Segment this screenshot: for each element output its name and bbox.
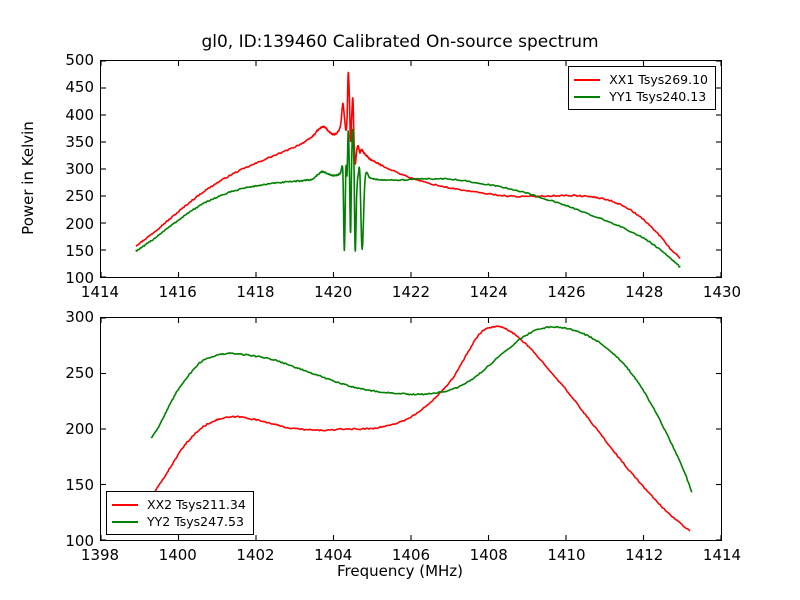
y-tick-label: 250 (52, 187, 94, 205)
y-tick-label: 300 (52, 160, 94, 178)
legend-label: YY2 Tsys247.53 (147, 514, 244, 529)
x-tick-label: 1410 (547, 546, 585, 564)
x-tick-label: 1414 (703, 546, 741, 564)
x-tick-label: 1426 (547, 283, 585, 301)
y-tick-label: 150 (52, 476, 94, 494)
x-tick-label: 1406 (392, 546, 430, 564)
y-tick-label: 350 (52, 133, 94, 151)
x-tick-label: 1418 (236, 283, 274, 301)
x-tick-label: 1408 (470, 546, 508, 564)
y-tick-label: 100 (52, 269, 94, 287)
x-tick-label: 1404 (314, 546, 352, 564)
y-tick-label: 450 (52, 78, 94, 96)
y-tick-label: 100 (52, 532, 94, 550)
x-tick-label: 1430 (703, 283, 741, 301)
legend-entry: YY1 Tsys240.13 (574, 88, 708, 105)
y-tick-label: 250 (52, 364, 94, 382)
y-tick-label: 300 (52, 308, 94, 326)
page-title: gl0, ID:139460 Calibrated On-source spec… (0, 32, 800, 52)
y-tick-label: 200 (52, 420, 94, 438)
x-axis-label: Frequency (MHz) (0, 562, 800, 580)
x-tick-label: 1412 (625, 546, 663, 564)
y-axis-label-top: Power in Kelvin (19, 88, 37, 268)
legend-entry: XX1 Tsys269.10 (574, 71, 708, 88)
legend-bottom: XX2 Tsys211.34YY2 Tsys247.53 (106, 491, 254, 535)
legend-color-swatch (574, 96, 600, 98)
legend-label: XX1 Tsys269.10 (609, 72, 708, 87)
x-tick-label: 1428 (625, 283, 663, 301)
plot-panel-bottom: XX2 Tsys211.34YY2 Tsys247.53 (100, 317, 722, 541)
y-tick-label: 200 (52, 215, 94, 233)
legend-color-swatch (112, 521, 138, 523)
legend-color-swatch (112, 504, 138, 506)
figure-canvas: gl0, ID:139460 Calibrated On-source spec… (0, 0, 800, 600)
legend-entry: YY2 Tsys247.53 (112, 513, 246, 530)
legend-top: XX1 Tsys269.10YY1 Tsys240.13 (568, 66, 716, 110)
y-tick-label: 500 (52, 51, 94, 69)
x-tick-label: 1422 (392, 283, 430, 301)
x-tick-label: 1400 (159, 546, 197, 564)
legend-label: XX2 Tsys211.34 (147, 497, 246, 512)
y-tick-label: 400 (52, 106, 94, 124)
y-tick-label: 150 (52, 242, 94, 260)
legend-label: YY1 Tsys240.13 (609, 89, 706, 104)
legend-entry: XX2 Tsys211.34 (112, 496, 246, 513)
x-tick-label: 1416 (159, 283, 197, 301)
legend-color-swatch (574, 79, 600, 81)
x-tick-label: 1424 (470, 283, 508, 301)
x-tick-label: 1402 (236, 546, 274, 564)
plot-panel-top: XX1 Tsys269.10YY1 Tsys240.13 (100, 60, 722, 278)
x-tick-label: 1420 (314, 283, 352, 301)
